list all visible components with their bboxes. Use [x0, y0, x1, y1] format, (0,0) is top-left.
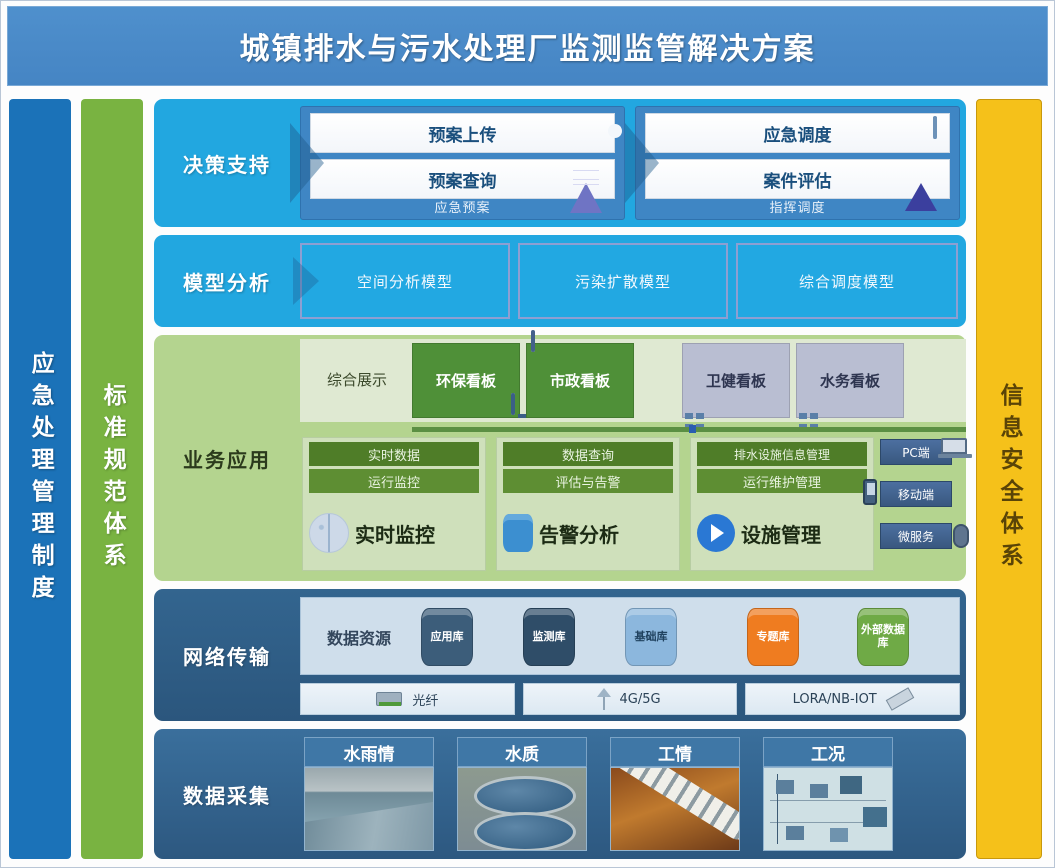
collection-item-operating-condition-label: 工况 [763, 737, 893, 767]
collection-item-water-quality-label: 水质 [457, 737, 587, 767]
device-mobile-label: 移动端 [898, 486, 934, 503]
business-column-alarm: 数据查询 评估与告警 告警分析 [496, 437, 680, 571]
chip-operation-maintenance[interactable]: 运行维护管理 [697, 469, 867, 493]
board-health-label: 卫健看板 [706, 370, 766, 391]
board-environmental[interactable]: 环保看板 [412, 343, 520, 418]
board-municipal-label: 市政看板 [550, 370, 610, 391]
layer-data-collection: 数据采集 水雨情 水质 工情 工况 [154, 729, 966, 859]
card-case-assessment-label: 案件评估 [764, 167, 832, 192]
chevron-model-icon [293, 257, 319, 305]
comprehensive-display-label: 综合展示 [308, 369, 406, 390]
cylinder-icon [503, 514, 533, 552]
chip-drainage-facility-info[interactable]: 排水设施信息管理 [697, 442, 867, 466]
layer-label-network-transmission: 网络传输 [154, 589, 300, 721]
card-plan-upload[interactable]: 预案上传 [310, 113, 615, 153]
collection-item-rainfall[interactable]: 水雨情 [304, 737, 434, 851]
device-pc[interactable]: PC端 [880, 439, 952, 465]
device-mobile[interactable]: 移动端 [880, 481, 952, 507]
card-case-assessment[interactable]: 案件评估 [645, 159, 950, 199]
play-icon [697, 514, 735, 552]
database-external[interactable]: 外部数据库 [857, 608, 909, 666]
decision-group-2-sublabel: 指挥调度 [636, 197, 959, 216]
sidebar-standard-specification-system: 标准规范体系 [81, 99, 143, 859]
database-monitoring[interactable]: 监测库 [523, 608, 575, 666]
feature-alarm-analysis[interactable]: 告警分析 [503, 502, 675, 564]
sidebar-label-emergency: 应急处理管理制度 [28, 351, 52, 607]
antenna-icon [599, 688, 609, 710]
collection-item-engineering[interactable]: 工情 [610, 737, 740, 851]
page-title-bar: 城镇排水与污水处理厂监测监管解决方案 [7, 6, 1048, 86]
database-thematic[interactable]: 专题库 [747, 608, 799, 666]
feature-alarm-analysis-label: 告警分析 [539, 519, 619, 548]
fiber-icon [376, 692, 402, 706]
layer-label-decision-support: 决策支持 [154, 99, 300, 227]
diamond-icon [905, 164, 937, 183]
feature-facility-management-label: 设施管理 [741, 519, 821, 548]
battery-icon [885, 687, 914, 710]
collection-item-engineering-label: 工情 [610, 737, 740, 767]
globe-icon [309, 513, 349, 553]
board-health[interactable]: 卫健看板 [682, 343, 790, 418]
card-emergency-dispatch-label: 应急调度 [764, 121, 832, 146]
layer-decision-support: 决策支持 预案上传 预案查询 应急预案 应急调度 [154, 99, 966, 227]
transport-cellular[interactable]: 4G/5G [523, 683, 738, 715]
layer-label-data-collection: 数据采集 [154, 729, 300, 859]
process-schematic-diagram [763, 767, 893, 851]
sidebar-label-standard: 标准规范体系 [100, 383, 124, 575]
transport-lora[interactable]: LORA/NB-IOT [745, 683, 960, 715]
business-column-facility: 排水设施信息管理 运行维护管理 设施管理 [690, 437, 874, 571]
layer-label-business-application: 业务应用 [154, 335, 300, 581]
layer-label-model-analysis: 模型分析 [154, 235, 300, 327]
card-plan-upload-label: 预案上传 [429, 121, 497, 146]
phone-icon [863, 479, 877, 505]
feature-facility-management[interactable]: 设施管理 [697, 502, 869, 564]
board-municipal[interactable]: 市政看板 [526, 343, 634, 418]
mouse-icon [953, 524, 969, 548]
pyramid-icon [570, 164, 602, 183]
chip-realtime-data[interactable]: 实时数据 [309, 442, 479, 466]
transport-cellular-label: 4G/5G [619, 692, 660, 707]
collection-item-water-quality[interactable]: 水质 [457, 737, 587, 851]
page-title: 城镇排水与污水处理厂监测监管解决方案 [240, 24, 816, 68]
business-column-monitoring: 实时数据 运行监控 实时监控 [302, 437, 486, 571]
device-microservice-label: 微服务 [898, 528, 934, 545]
buried-pipeline-photo [610, 767, 740, 851]
chip-assessment-alarm[interactable]: 评估与告警 [503, 469, 673, 493]
transport-fiber[interactable]: 光纤 [300, 683, 515, 715]
card-plan-query-label: 预案查询 [429, 167, 497, 192]
chip-data-query[interactable]: 数据查询 [503, 442, 673, 466]
sidebar-information-security-system: 信息安全体系 [976, 99, 1042, 859]
decision-group-1-sublabel: 应急预案 [301, 197, 624, 216]
grid-icon [933, 118, 937, 137]
data-resource-label: 数据资源 [309, 625, 409, 649]
layer-business-application: 业务应用 综合展示 环保看板 市政看板 卫健看板 [154, 335, 966, 581]
sidebar-emergency-management-system: 应急处理管理制度 [9, 99, 71, 859]
card-plan-query[interactable]: 预案查询 [310, 159, 615, 199]
decision-group-command-dispatch: 应急调度 案件评估 指挥调度 [635, 106, 960, 220]
river-channel-photo [304, 767, 434, 851]
database-basic[interactable]: 基础库 [625, 608, 677, 666]
model-card-pollution-diffusion[interactable]: 污染扩散模型 [518, 243, 728, 319]
chevron-decision-2-icon [625, 123, 659, 203]
device-column: PC端 移动端 微服务 [880, 435, 966, 571]
transport-fiber-label: 光纤 [412, 690, 438, 709]
board-water-affairs-label: 水务看板 [820, 370, 880, 391]
collection-item-rainfall-label: 水雨情 [304, 737, 434, 767]
sidebar-label-security: 信息安全体系 [997, 383, 1021, 575]
device-pc-label: PC端 [902, 444, 930, 461]
transport-lora-label: LORA/NB-IOT [793, 692, 877, 707]
model-card-spatial[interactable]: 空间分析模型 [300, 243, 510, 319]
database-application[interactable]: 应用库 [421, 608, 473, 666]
feature-realtime-monitoring-label: 实时监控 [355, 519, 435, 548]
board-environmental-label: 环保看板 [436, 370, 496, 391]
chip-operation-monitoring[interactable]: 运行监控 [309, 469, 479, 493]
collection-item-operating-condition[interactable]: 工况 [763, 737, 893, 851]
business-divider [412, 427, 966, 432]
device-microservice[interactable]: 微服务 [880, 523, 952, 549]
comprehensive-display-row: 综合展示 环保看板 市政看板 卫健看板 水务看板 [300, 339, 966, 422]
feature-realtime-monitoring[interactable]: 实时监控 [309, 502, 481, 564]
decision-group-emergency-plan: 预案上传 预案查询 应急预案 [300, 106, 625, 220]
sewage-treatment-tanks-photo [457, 767, 587, 851]
model-card-integrated-dispatch[interactable]: 综合调度模型 [736, 243, 958, 319]
layer-model-analysis: 模型分析 空间分析模型 污染扩散模型 综合调度模型 [154, 235, 966, 327]
board-water-affairs[interactable]: 水务看板 [796, 343, 904, 418]
layer-network-transmission: 网络传输 数据资源 应用库 监测库 基础库 专题库 外部数据库 光纤 4G/5G [154, 589, 966, 721]
chevron-decision-icon [290, 123, 324, 203]
window-icon [531, 332, 535, 350]
diagram-page: 城镇排水与污水处理厂监测监管解决方案 应急处理管理制度 标准规范体系 信息安全体… [0, 0, 1055, 868]
monitor-icon [511, 395, 515, 413]
transport-bar: 光纤 4G/5G LORA/NB-IOT [300, 683, 960, 715]
main-stack: 决策支持 预案上传 预案查询 应急预案 应急调度 [154, 99, 966, 861]
card-emergency-dispatch[interactable]: 应急调度 [645, 113, 950, 153]
data-resource-panel: 数据资源 应用库 监测库 基础库 专题库 外部数据库 [300, 597, 960, 675]
business-inner: 综合展示 环保看板 市政看板 卫健看板 水务看板 [300, 335, 966, 581]
laptop-icon [941, 438, 967, 454]
